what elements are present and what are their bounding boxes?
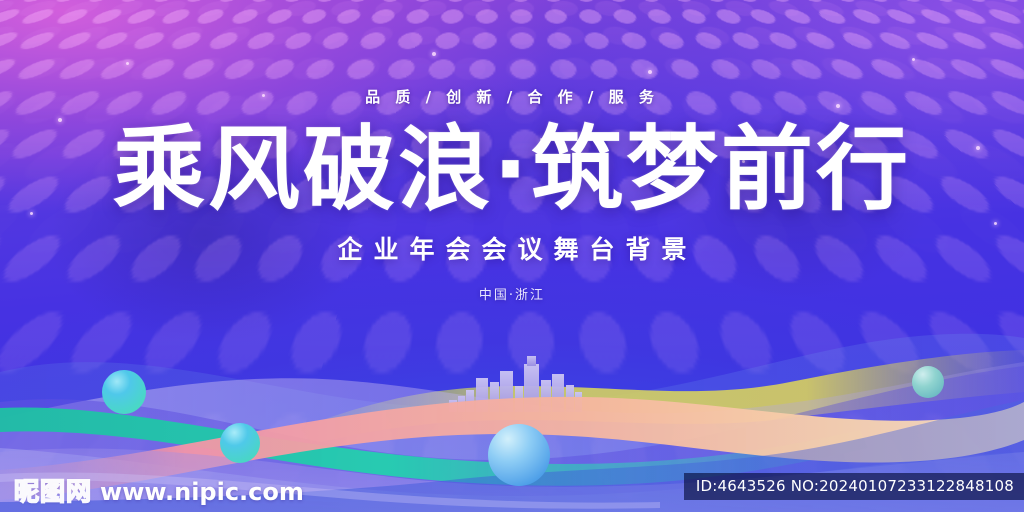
eyebrow-tagline: 品 质 / 创 新 / 合 作 / 服 务 bbox=[0, 86, 1024, 107]
page-subtitle: 企业年会会议舞台背景 bbox=[0, 230, 1024, 266]
watermark-url: www.nipic.com bbox=[100, 480, 304, 504]
watermark-brand-cn: 昵图网 bbox=[14, 479, 92, 504]
watermark: 昵图网 www.nipic.com bbox=[14, 479, 304, 504]
page-title: 乘风破浪·筑梦前行 bbox=[0, 124, 1024, 216]
poster-text-block: 品 质 / 创 新 / 合 作 / 服 务 乘风破浪·筑梦前行 企业年会会议舞台… bbox=[0, 0, 1024, 512]
poster-canvas: 品 质 / 创 新 / 合 作 / 服 务 乘风破浪·筑梦前行 企业年会会议舞台… bbox=[0, 0, 1024, 512]
asset-id-tag: ID:4643526 NO:20240107233122848108 bbox=[684, 473, 1024, 500]
location-label: 中国·浙江 bbox=[0, 284, 1024, 303]
